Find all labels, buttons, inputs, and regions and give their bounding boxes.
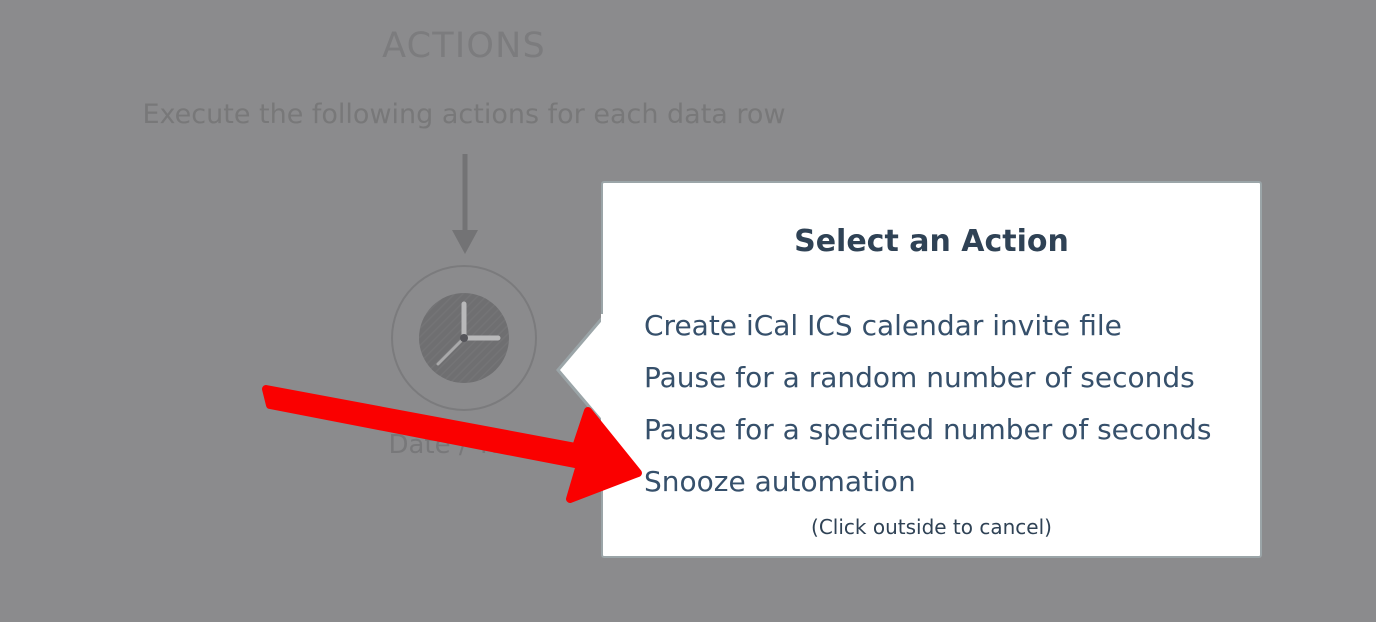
dialog-cancel-hint: (Click outside to cancel)	[603, 513, 1260, 541]
action-option-pause-random[interactable]: Pause for a random number of seconds	[644, 352, 1242, 404]
select-action-dialog: Select an Action Create iCal ICS calenda…	[601, 181, 1262, 558]
action-option-list: Create iCal ICS calendar invite file Pau…	[644, 300, 1242, 508]
page-title: ACTIONS	[0, 24, 928, 68]
action-option-pause-specified[interactable]: Pause for a specified number of seconds	[644, 404, 1242, 456]
node-label: Date / Time	[364, 428, 564, 462]
actions-subtitle: Execute the following actions for each d…	[0, 97, 928, 133]
callout-pointer-left-icon	[556, 314, 606, 426]
action-option-create-ical[interactable]: Create iCal ICS calendar invite file	[644, 300, 1242, 352]
clock-icon[interactable]	[390, 264, 538, 412]
screen-root: ACTIONS Execute the following actions fo…	[0, 0, 1376, 622]
action-option-snooze-automation[interactable]: Snooze automation	[644, 456, 1242, 508]
dialog-title: Select an Action	[603, 223, 1260, 261]
arrow-down-icon	[447, 150, 483, 258]
